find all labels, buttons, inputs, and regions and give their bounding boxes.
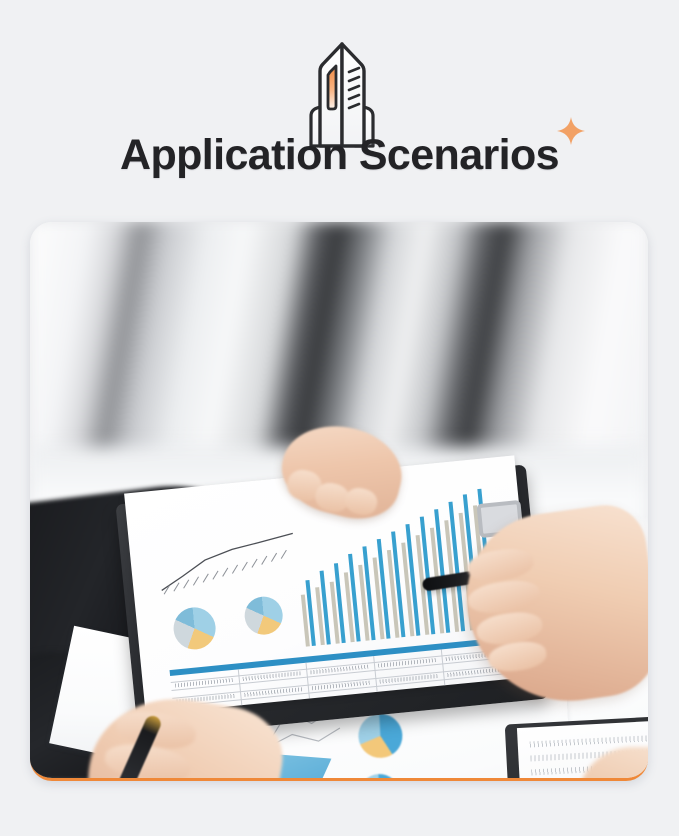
hero-card: Document xyxy=(30,222,648,781)
page-title: Application Scenarios xyxy=(120,128,559,182)
hero-photo xyxy=(30,222,648,778)
sparkle-star-icon xyxy=(555,115,587,147)
page-header: Application Scenarios xyxy=(0,0,679,212)
title-row: Application Scenarios xyxy=(0,128,679,182)
